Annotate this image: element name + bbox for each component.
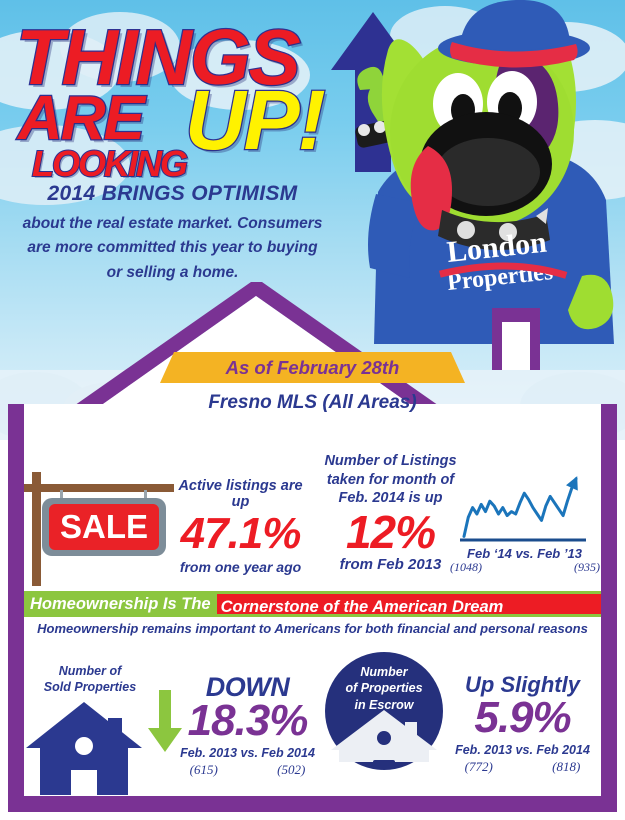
sold-count-2014: (502) xyxy=(277,762,305,778)
chart-value-labels: (1048) (935) xyxy=(450,560,600,575)
listings-trend-line-chart xyxy=(458,468,588,546)
stat-active-listings-footnote: from one year ago xyxy=(168,559,313,575)
subtitle-block: 2014 BRINGS OPTIMISM about the real esta… xyxy=(0,182,345,284)
sold-properties-label-line2: Sold Properties xyxy=(44,680,136,694)
homeownership-banner: Homeownership Is The Cornerstone of the … xyxy=(24,591,601,617)
stat-sold-properties: DOWN 18.3% Feb. 2013 vs. Feb 2014 (615) … xyxy=(160,672,335,778)
infographic-poster: London Properties THINGS ARE UP! LOOKING… xyxy=(0,0,625,820)
sale-sign-icon: SALE xyxy=(18,468,183,586)
escrow-text-line3: in Escrow xyxy=(354,698,413,712)
stat-sold-properties-comparison: Feb. 2013 vs. Feb 2014 xyxy=(160,746,335,760)
stat-listings-taken-caption-3: Feb. 2014 is up xyxy=(308,489,473,508)
sale-sign-label: SALE xyxy=(60,508,148,545)
stat-listings-taken-caption-2: taken for month of xyxy=(308,471,473,490)
poster-title: THINGS ARE UP! LOOKING xyxy=(10,12,370,172)
escrow-text-line1: Number xyxy=(360,665,407,679)
sold-count-2013: (615) xyxy=(190,762,218,778)
title-accent-up: UP! xyxy=(185,78,324,162)
homeownership-banner-red: Cornerstone of the American Dream xyxy=(217,591,601,617)
homeownership-subtext: Homeownership remains important to Ameri… xyxy=(0,621,625,636)
sold-properties-label: Number of Sold Properties xyxy=(30,664,150,695)
chart-label-left: (1048) xyxy=(450,560,482,575)
stat-listings-taken-footnote: from Feb 2013 xyxy=(308,556,473,573)
subtitle-heading: 2014 BRINGS OPTIMISM xyxy=(0,182,345,206)
subtitle-line-1: about the real estate market. Consumers xyxy=(0,213,345,235)
escrow-count-2014: (818) xyxy=(552,759,580,775)
stat-escrow: Up Slightly 5.9% Feb. 2013 vs. Feb 2014 … xyxy=(435,672,610,775)
house-icon xyxy=(24,700,144,795)
stat-escrow-comparison: Feb. 2013 vs. Feb 2014 xyxy=(435,743,610,757)
sold-properties-label-line1: Number of xyxy=(59,664,122,678)
stat-escrow-value: 5.9% xyxy=(435,696,610,740)
stat-listings-taken-value: 12% xyxy=(308,509,473,555)
chart-caption: Feb ‘14 vs. Feb ’13 xyxy=(452,546,597,561)
homeownership-banner-green: Homeownership Is The xyxy=(24,591,217,617)
stat-listings-taken-caption-1: Number of Listings xyxy=(308,452,473,471)
escrow-text-line2: of Properties xyxy=(345,681,422,695)
title-line-looking: LOOKING xyxy=(32,146,186,182)
mls-source-label: Fresno MLS (All Areas) xyxy=(0,392,625,414)
stat-sold-properties-value: 18.3% xyxy=(160,699,335,743)
house-chimney-inner xyxy=(502,322,530,370)
escrow-count-2013: (772) xyxy=(465,759,493,775)
as-of-date-banner: As of February 28th xyxy=(160,352,465,383)
stat-listings-taken: Number of Listings taken for month of Fe… xyxy=(308,452,473,573)
subtitle-line-2: are more committed this year to buying xyxy=(0,237,345,259)
stat-active-listings-value: 47.1% xyxy=(168,511,313,557)
stat-active-listings-caption: Active listings are up xyxy=(168,478,313,510)
stat-sold-properties-counts: (615) (502) xyxy=(160,762,335,778)
escrow-circle-text: Number of Properties in Escrow xyxy=(325,664,443,713)
chart-label-right: (935) xyxy=(574,560,600,575)
stat-escrow-counts: (772) (818) xyxy=(435,759,610,775)
title-line-are: ARE xyxy=(18,88,143,150)
stat-active-listings: Active listings are up 47.1% from one ye… xyxy=(168,478,313,575)
